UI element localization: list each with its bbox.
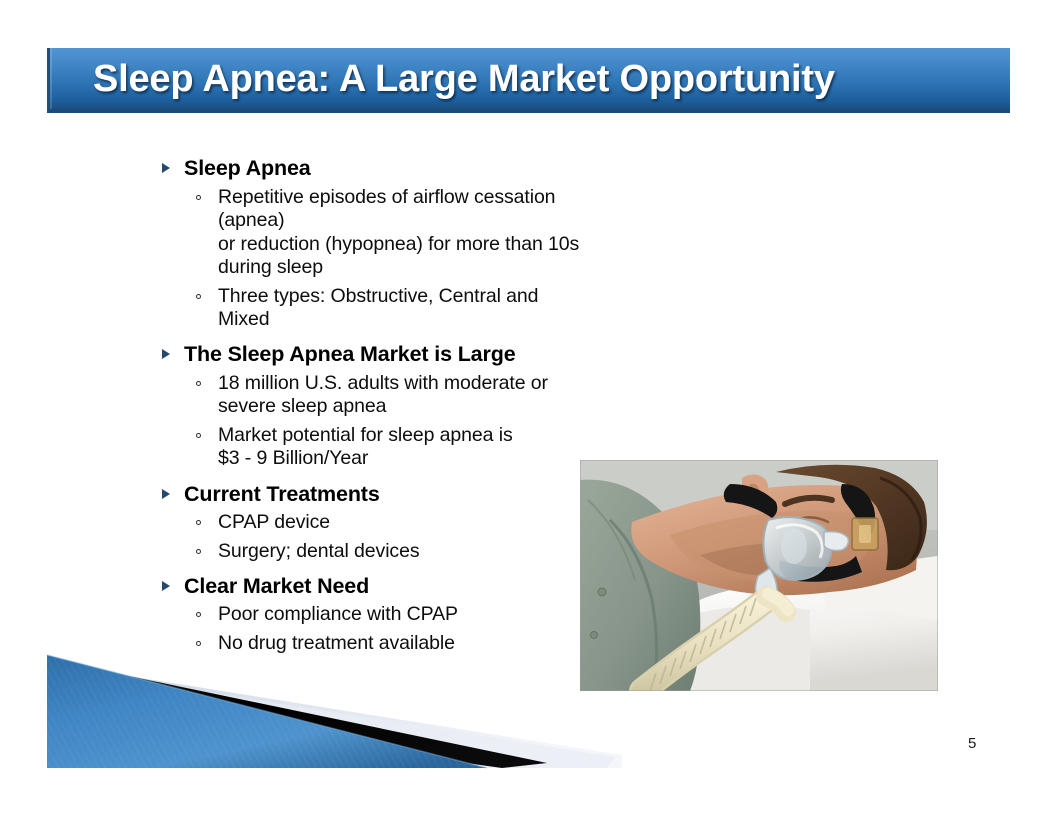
bullet-group-market-need: Clear Market Need Poor compliance with C… [158,573,588,656]
bullet-sub-label: No drug treatment available [218,632,455,656]
bullet-sub-item: No drug treatment available [158,632,588,656]
bullet-heading-label: Sleep Apnea [184,155,311,183]
bullet-sub-label: Repetitive episodes of airflow cessation… [218,186,588,280]
bullet-heading-label: Clear Market Need [184,573,369,601]
triangle-right-icon [158,155,184,173]
bullet-sub-item: 18 million U.S. adults with moderate or … [158,372,588,419]
bullet-sub-label: Market potential for sleep apnea is $3 -… [218,424,513,471]
bullet-sub-label: CPAP device [218,511,330,535]
bullet-group-current-treatments: Current Treatments CPAP device Surgery; … [158,481,588,564]
triangle-right-icon [158,341,184,359]
circle-outline-icon [194,511,218,525]
circle-outline-icon [194,372,218,386]
bullet-sub-label: Three types: Obstructive, Central and Mi… [218,285,588,332]
circle-outline-icon [194,603,218,617]
bullet-sub-item: Repetitive episodes of airflow cessation… [158,186,588,280]
slide-title-banner: Sleep Apnea: A Large Market Opportunity [47,48,1010,113]
bullet-sub-item: Surgery; dental devices [158,540,588,564]
bullet-sub-item: Poor compliance with CPAP [158,603,588,627]
bullet-group-market-size: The Sleep Apnea Market is Large 18 milli… [158,341,588,471]
bullet-content: Sleep Apnea Repetitive episodes of airfl… [158,155,588,663]
slide-number: 5 [968,735,976,752]
bullet-heading: The Sleep Apnea Market is Large [158,341,588,369]
circle-outline-icon [194,285,218,299]
bullet-heading: Current Treatments [158,481,588,509]
triangle-right-icon [158,481,184,499]
bullet-heading-label: Current Treatments [184,481,380,509]
bullet-heading: Sleep Apnea [158,155,588,183]
bullet-heading: Clear Market Need [158,573,588,601]
circle-outline-icon [194,540,218,554]
bullet-sub-label: Poor compliance with CPAP [218,603,458,627]
corner-decoration [47,645,622,770]
bullet-sub-item: Market potential for sleep apnea is $3 -… [158,424,588,471]
bullet-heading-label: The Sleep Apnea Market is Large [184,341,516,369]
bullet-sub-label: Surgery; dental devices [218,540,419,564]
bullet-sub-item: CPAP device [158,511,588,535]
bullet-group-sleep-apnea: Sleep Apnea Repetitive episodes of airfl… [158,155,588,332]
page-title: Sleep Apnea: A Large Market Opportunity [50,60,835,98]
bullet-sub-label: 18 million U.S. adults with moderate or … [218,372,548,419]
cpap-patient-photo [580,460,938,691]
circle-outline-icon [194,632,218,646]
slide: Sleep Apnea: A Large Market Opportunity … [0,0,1056,816]
bullet-sub-item: Three types: Obstructive, Central and Mi… [158,285,588,332]
triangle-right-icon [158,573,184,591]
circle-outline-icon [194,186,218,200]
circle-outline-icon [194,424,218,438]
